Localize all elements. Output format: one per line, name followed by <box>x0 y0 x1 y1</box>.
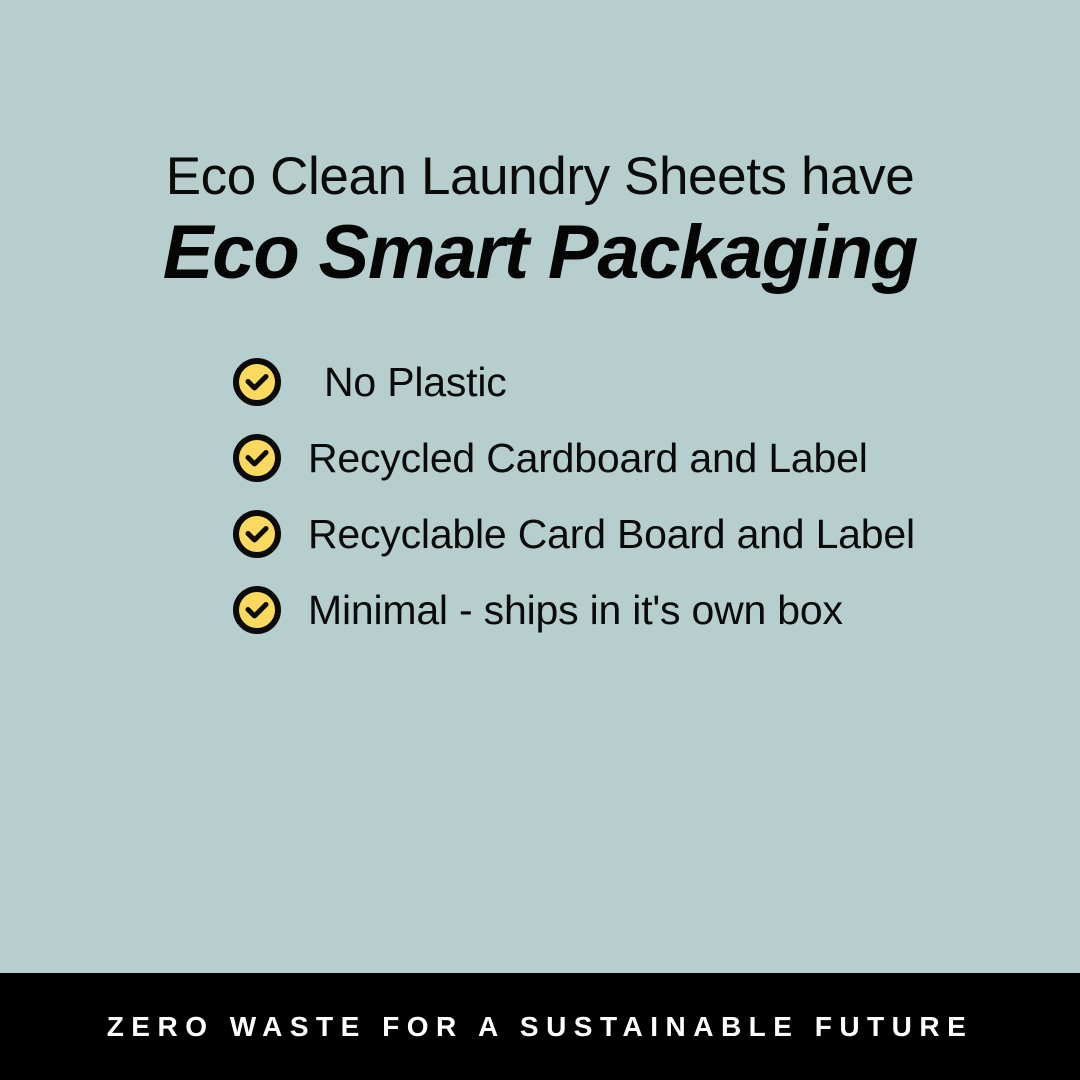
benefit-label: Recycled Cardboard and Label <box>308 438 868 479</box>
benefit-item: No Plastic <box>232 353 1080 411</box>
benefit-label: Recyclable Card Board and Label <box>308 514 915 555</box>
promo-poster: Eco Clean Laundry Sheets have Eco Smart … <box>0 0 1080 1080</box>
benefit-item: Minimal - ships in it's own box <box>232 581 1080 639</box>
benefits-list: No Plastic Recycled Cardboard and Label … <box>0 353 1080 639</box>
benefit-item: Recyclable Card Board and Label <box>232 505 1080 563</box>
headline-line-2: Eco Smart Packaging <box>60 209 1020 297</box>
footer-banner: ZERO WASTE FOR A SUSTAINABLE FUTURE <box>0 973 1080 1080</box>
benefit-item: Recycled Cardboard and Label <box>232 429 1080 487</box>
check-circle-icon <box>232 585 282 635</box>
layout-spacer <box>0 639 1080 973</box>
check-circle-icon <box>232 357 282 407</box>
check-circle-icon <box>232 509 282 559</box>
benefit-label: No Plastic <box>324 362 507 403</box>
headline-line-1: Eco Clean Laundry Sheets have <box>60 148 1020 205</box>
check-circle-icon <box>232 433 282 483</box>
benefit-label: Minimal - ships in it's own box <box>308 590 843 631</box>
footer-tagline: ZERO WASTE FOR A SUSTAINABLE FUTURE <box>107 1011 974 1043</box>
headline-block: Eco Clean Laundry Sheets have Eco Smart … <box>0 148 1080 297</box>
